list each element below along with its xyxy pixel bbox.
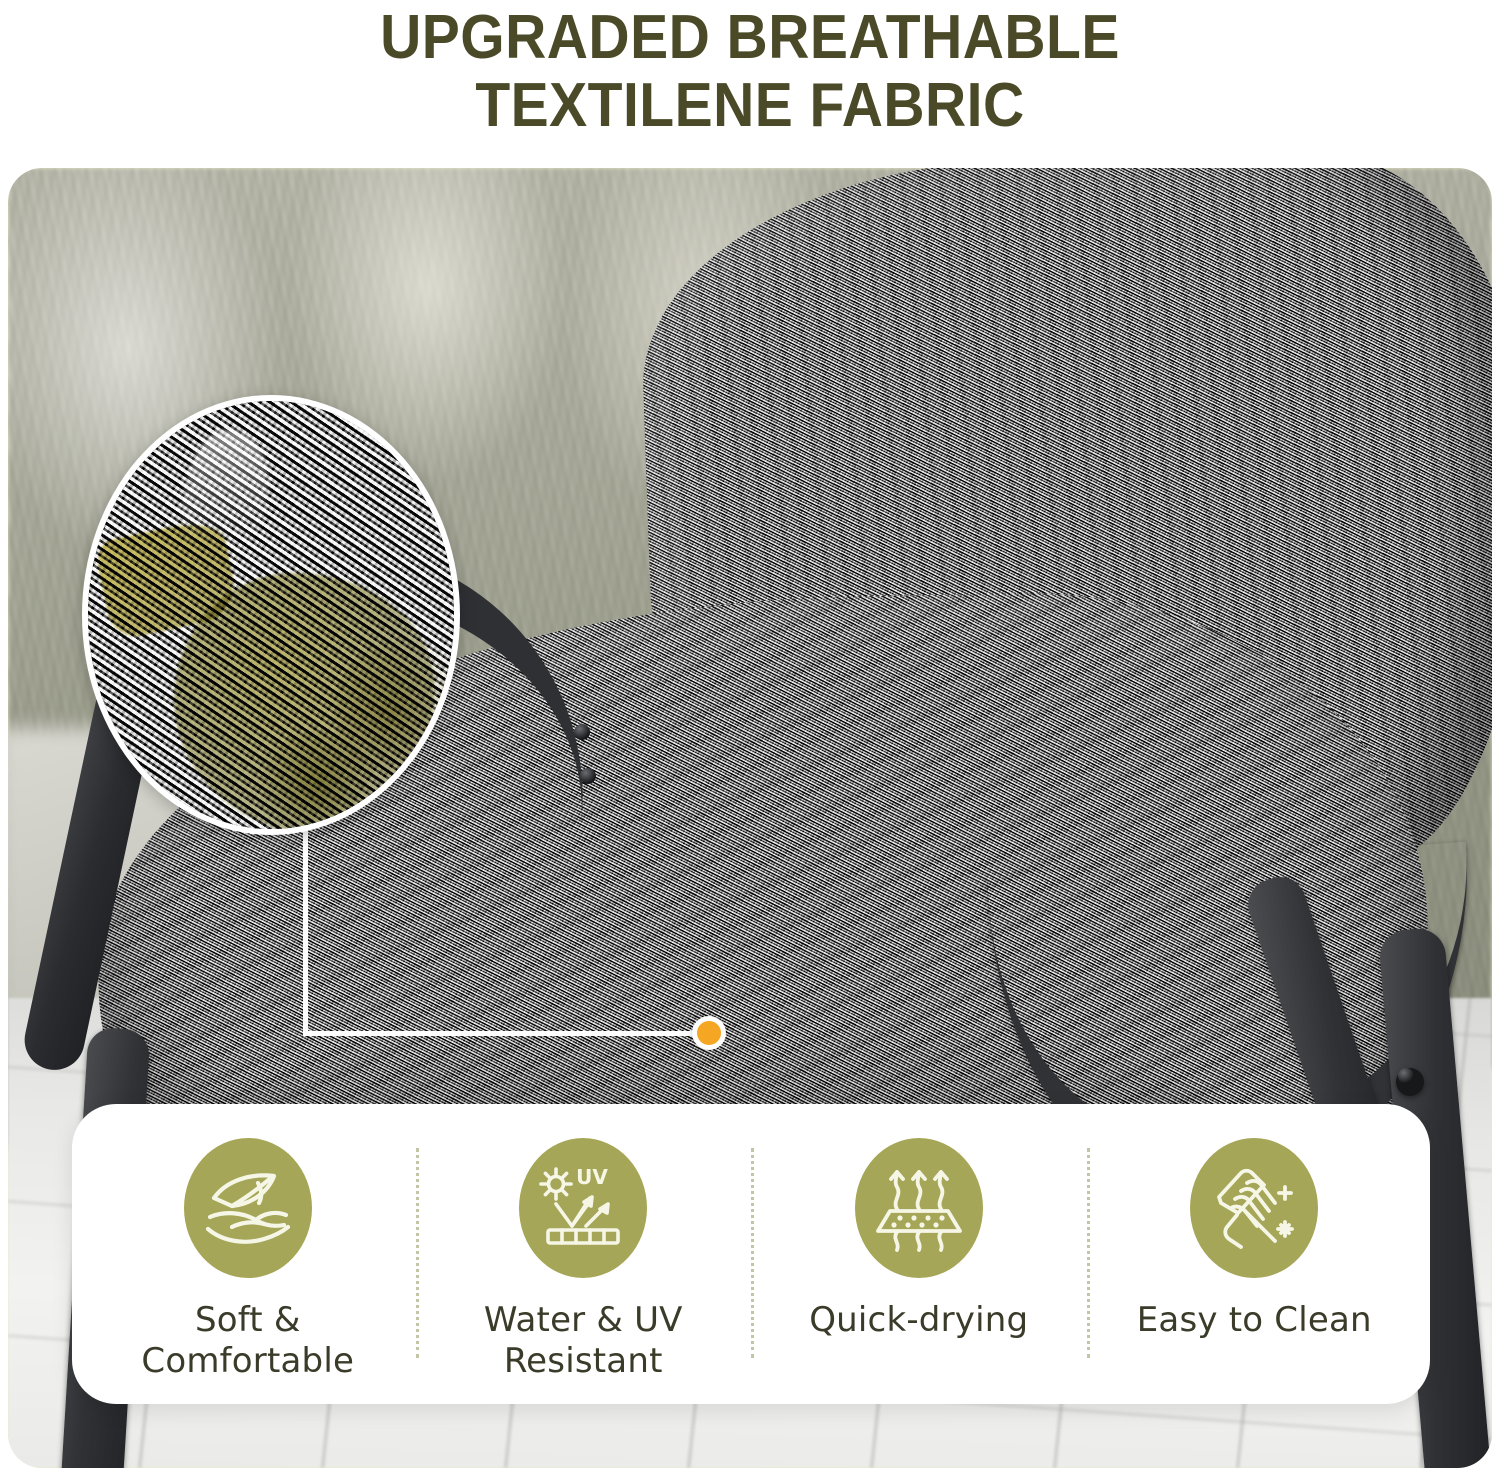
feature-item-water-uv-resistant: UV Water & UV Resistant [416, 1104, 752, 1404]
feature-item-easy-to-clean: Easy to Clean [1087, 1104, 1423, 1404]
magnifier-detail-circle [82, 395, 460, 835]
feature-item-quick-drying: Quick-drying [751, 1104, 1087, 1404]
feature-label-water-uv-resistant: Water & UV Resistant [484, 1300, 683, 1382]
page-title: UPGRADED BREATHABLE TEXTILENE FABRIC [60, 4, 1440, 140]
callout-marker-dot [692, 1016, 726, 1050]
feature-label-quick-drying: Quick-drying [809, 1300, 1028, 1341]
hand-wiping-cloth-icon [1190, 1138, 1318, 1278]
frame-rivet-icon [580, 768, 596, 784]
headline-line-1: UPGRADED BREATHABLE [380, 3, 1120, 72]
airflow-mesh-icon [855, 1138, 983, 1278]
svg-text:UV: UV [576, 1165, 608, 1189]
feature-label-easy-to-clean: Easy to Clean [1137, 1300, 1372, 1341]
feature-label-soft-comfortable: Soft & Comfortable [141, 1300, 354, 1382]
hand-holding-feather-icon [184, 1138, 312, 1278]
sun-uv-shield-icon: UV [519, 1138, 647, 1278]
frame-rivet-icon [1398, 1068, 1414, 1084]
headline-line-2: TEXTILENE FABRIC [60, 72, 1440, 140]
frame-rivet-icon [574, 724, 590, 740]
feature-highlights-card: Soft & Comfortable UV [72, 1104, 1430, 1404]
product-feature-banner: UPGRADED BREATHABLE TEXTILENE FABRIC [0, 0, 1500, 1468]
feature-item-soft-comfortable: Soft & Comfortable [80, 1104, 416, 1404]
